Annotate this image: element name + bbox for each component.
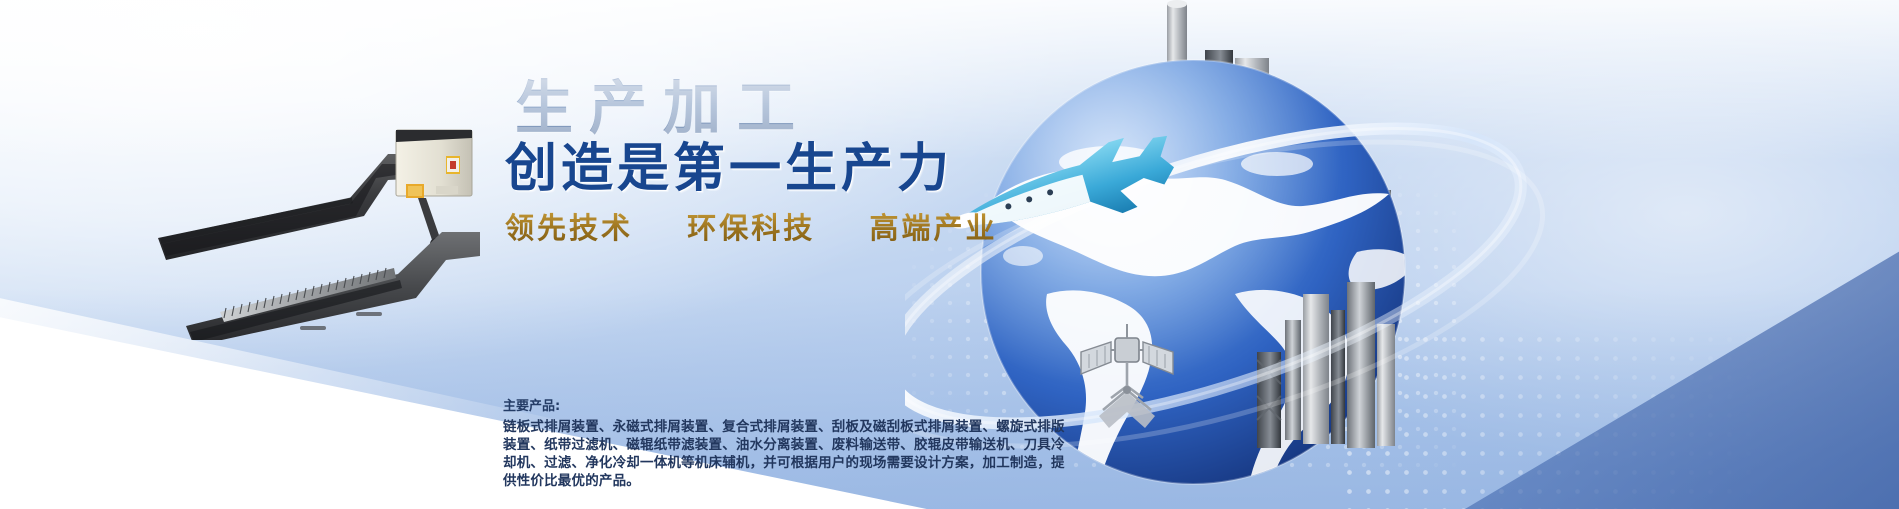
headline-main: 生产加工 [515, 78, 1197, 139]
product-line-2: 装置、纸带过滤机、磁辊纸带滤装置、油水分离装置、废料输送带、胶辊皮带输送机、刀具… [503, 436, 1293, 454]
tagline-1: 领先技术 [505, 211, 633, 245]
product-line-1: 链板式排屑装置、永磁式排屑装置、复合式排屑装置、刮板及磁刮板式排屑装置、螺旋式排… [503, 418, 1293, 436]
conveyor-upper [158, 130, 472, 260]
halftone-dots-secondary-icon [1340, 330, 1860, 509]
promotional-banner: 生产加工 创造是第一生产力 领先技术 环保科技 高端产业 主要产品: 链板式排屑… [0, 0, 1899, 509]
bottom-right-blue-wedge [1199, 179, 1899, 509]
tagline-3: 高端产业 [869, 211, 997, 245]
conveyor-lower [186, 232, 480, 340]
chip-conveyor-icon [150, 120, 530, 340]
tagline-2: 环保科技 [687, 211, 815, 245]
headline-sub: 创造是第一生产力 [505, 141, 1197, 197]
product-line-3: 却机、过滤、净化冷却一体机等机床辅机，并可根据用户的现场需要设计方案，加工制造，… [503, 454, 1293, 472]
tagline-row: 领先技术 环保科技 高端产业 [505, 205, 1197, 247]
product-description: 主要产品: 链板式排屑装置、永磁式排屑装置、复合式排屑装置、刮板及磁刮板式排屑装… [503, 397, 1293, 490]
product-list-body: 链板式排屑装置、永磁式排屑装置、复合式排屑装置、刮板及磁刮板式排屑装置、螺旋式排… [503, 418, 1293, 490]
product-list-title: 主要产品: [503, 397, 1293, 417]
headline-group: 生产加工 创造是第一生产力 领先技术 环保科技 高端产业 [497, 78, 1197, 247]
product-line-4: 供性价比最优的产品。 [503, 472, 1293, 490]
